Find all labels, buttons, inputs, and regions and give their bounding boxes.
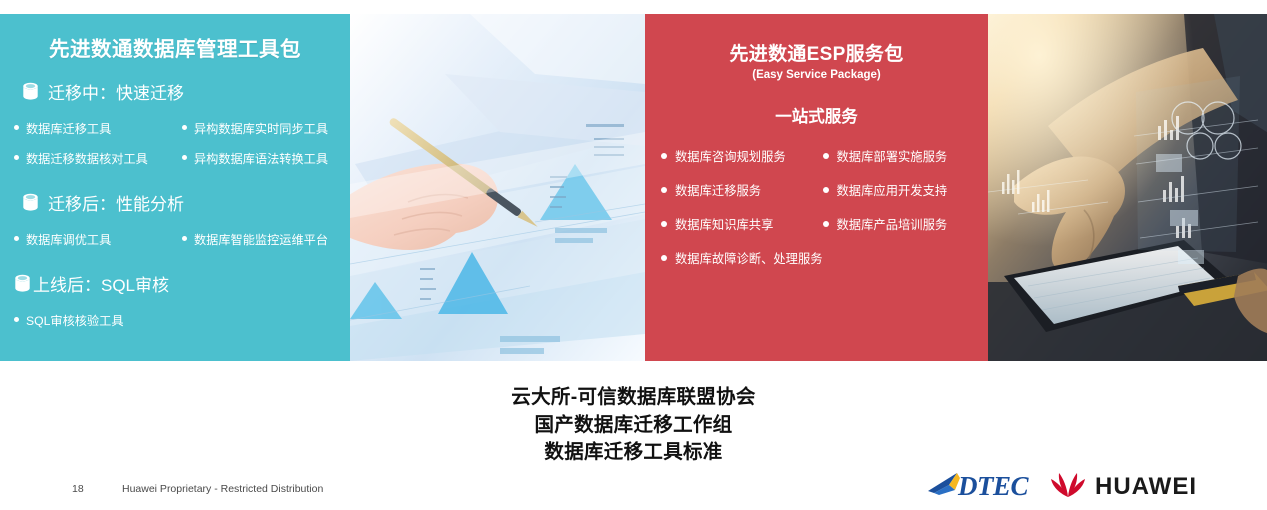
list-item-label: 数据库迁移工具: [26, 119, 111, 137]
left-teal-panel: 先进数通数据库管理工具包 迁移中：快速迁移 数据库迁移工具 异构数据库实时同步工…: [0, 14, 350, 361]
list-item: 数据库故障诊断、处理服务: [659, 241, 982, 275]
footer-note: Huawei Proprietary - Restricted Distribu…: [122, 483, 323, 495]
red-panel-section-heading: 一站式服务: [645, 103, 988, 127]
bullet-dot-icon: [14, 236, 19, 241]
list-item-label: 异构数据库语法转换工具: [194, 149, 328, 167]
bullet-dot-icon: [182, 155, 187, 160]
list-item: SQL审核核验工具: [10, 305, 346, 335]
section-heading-label: 迁移后：性能分析: [48, 190, 184, 215]
caption-line-2: 国产数据库迁移工作组: [0, 412, 1267, 440]
finger-touching-tablet-with-holographic-data-photo: [988, 14, 1267, 361]
list-item-label: SQL审核核验工具: [26, 311, 124, 329]
list-item-label: 数据库迁移服务: [675, 181, 761, 199]
caption-line-1: 云大所-可信数据库联盟协会: [0, 384, 1267, 412]
banner-strip: 先进数通数据库管理工具包 迁移中：快速迁移 数据库迁移工具 异构数据库实时同步工…: [0, 14, 1267, 361]
bullet-dot-icon: [661, 255, 667, 261]
bullet-dot-icon: [14, 317, 19, 322]
list-item: 数据库咨询规划服务: [659, 139, 821, 173]
bullet-dot-icon: [182, 236, 187, 241]
bullet-dot-icon: [823, 187, 829, 193]
dtec-logo: DTEC: [927, 471, 1028, 502]
database-icon: [14, 274, 31, 293]
bullet-dot-icon: [14, 155, 19, 160]
list-item-label: 数据库故障诊断、处理服务: [675, 249, 823, 267]
red-panel-subtitle: (Easy Service Package): [645, 69, 988, 81]
right-red-panel: 先进数通ESP服务包 (Easy Service Package) 一站式服务 …: [645, 14, 988, 361]
section-heading-after-migration: 迁移后：性能分析: [22, 190, 350, 215]
caption-block: 云大所-可信数据库联盟协会 国产数据库迁移工作组 数据库迁移工具标准: [0, 384, 1267, 467]
bullet-dot-icon: [182, 125, 187, 130]
huawei-logo-text: HUAWEI: [1095, 473, 1197, 501]
section-heading-after-golive: 上线后：SQL审核: [14, 271, 350, 296]
list-item-label: 数据库产品培训服务: [837, 215, 948, 233]
bullet-dot-icon: [661, 153, 667, 159]
left-panel-title: 先进数通数据库管理工具包: [0, 39, 350, 62]
dtec-mark-icon: [927, 471, 961, 502]
bullet-list-after-migration: 数据库调优工具 数据库智能监控运维平台: [0, 224, 350, 254]
list-item: 数据库调优工具: [10, 224, 178, 254]
section-heading-migrating: 迁移中：快速迁移: [22, 79, 350, 104]
list-item: 数据迁移数据核对工具: [10, 143, 178, 173]
bullet-dot-icon: [823, 221, 829, 227]
list-item: 数据库迁移服务: [659, 173, 821, 207]
list-item: 数据库迁移工具: [10, 113, 178, 143]
huawei-flower-icon: [1050, 470, 1086, 503]
list-item: 数据库部署实施服务: [821, 139, 983, 173]
bullet-dot-icon: [661, 221, 667, 227]
huawei-logo: HUAWEI: [1050, 470, 1197, 503]
list-item-label: 数据库调优工具: [26, 230, 111, 248]
list-item-label: 数据库部署实施服务: [837, 147, 948, 165]
footer-logos: DTEC HUAWEI: [927, 470, 1197, 503]
red-bullet-list: 数据库咨询规划服务 数据库部署实施服务 数据库迁移服务 数据库应用开发支持 数据…: [645, 139, 988, 275]
bullet-list-after-golive: SQL审核核验工具: [0, 305, 350, 335]
list-item: 数据库知识库共享: [659, 207, 821, 241]
slide-root: 先进数通数据库管理工具包 迁移中：快速迁移 数据库迁移工具 异构数据库实时同步工…: [0, 0, 1267, 510]
section-heading-label: 上线后：SQL审核: [33, 271, 169, 296]
bullet-list-migrating: 数据库迁移工具 异构数据库实时同步工具 数据迁移数据核对工具 异构数据库语法转换…: [0, 113, 350, 173]
hand-with-pen-over-blue-charts-photo: [350, 14, 645, 361]
list-item-label: 数据库应用开发支持: [837, 181, 948, 199]
list-item-label: 数据库知识库共享: [675, 215, 773, 233]
list-item-label: 数据库智能监控运维平台: [194, 230, 328, 248]
list-item: 异构数据库语法转换工具: [178, 143, 346, 173]
page-number: 18: [72, 483, 84, 495]
bullet-dot-icon: [823, 153, 829, 159]
list-item-label: 数据迁移数据核对工具: [26, 149, 148, 167]
list-item: 数据库智能监控运维平台: [178, 224, 346, 254]
red-panel-title: 先进数通ESP服务包: [645, 44, 988, 66]
list-item: 异构数据库实时同步工具: [178, 113, 346, 143]
list-item: 数据库产品培训服务: [821, 207, 983, 241]
database-icon: [22, 82, 39, 101]
bullet-dot-icon: [14, 125, 19, 130]
list-item: 数据库应用开发支持: [821, 173, 983, 207]
bullet-dot-icon: [661, 187, 667, 193]
section-heading-label: 迁移中：快速迁移: [48, 79, 184, 104]
database-icon: [22, 193, 39, 212]
caption-line-3: 数据库迁移工具标准: [0, 439, 1267, 467]
list-item-label: 数据库咨询规划服务: [675, 147, 786, 165]
list-item-label: 异构数据库实时同步工具: [194, 119, 328, 137]
dtec-logo-text: DTEC: [958, 471, 1028, 502]
